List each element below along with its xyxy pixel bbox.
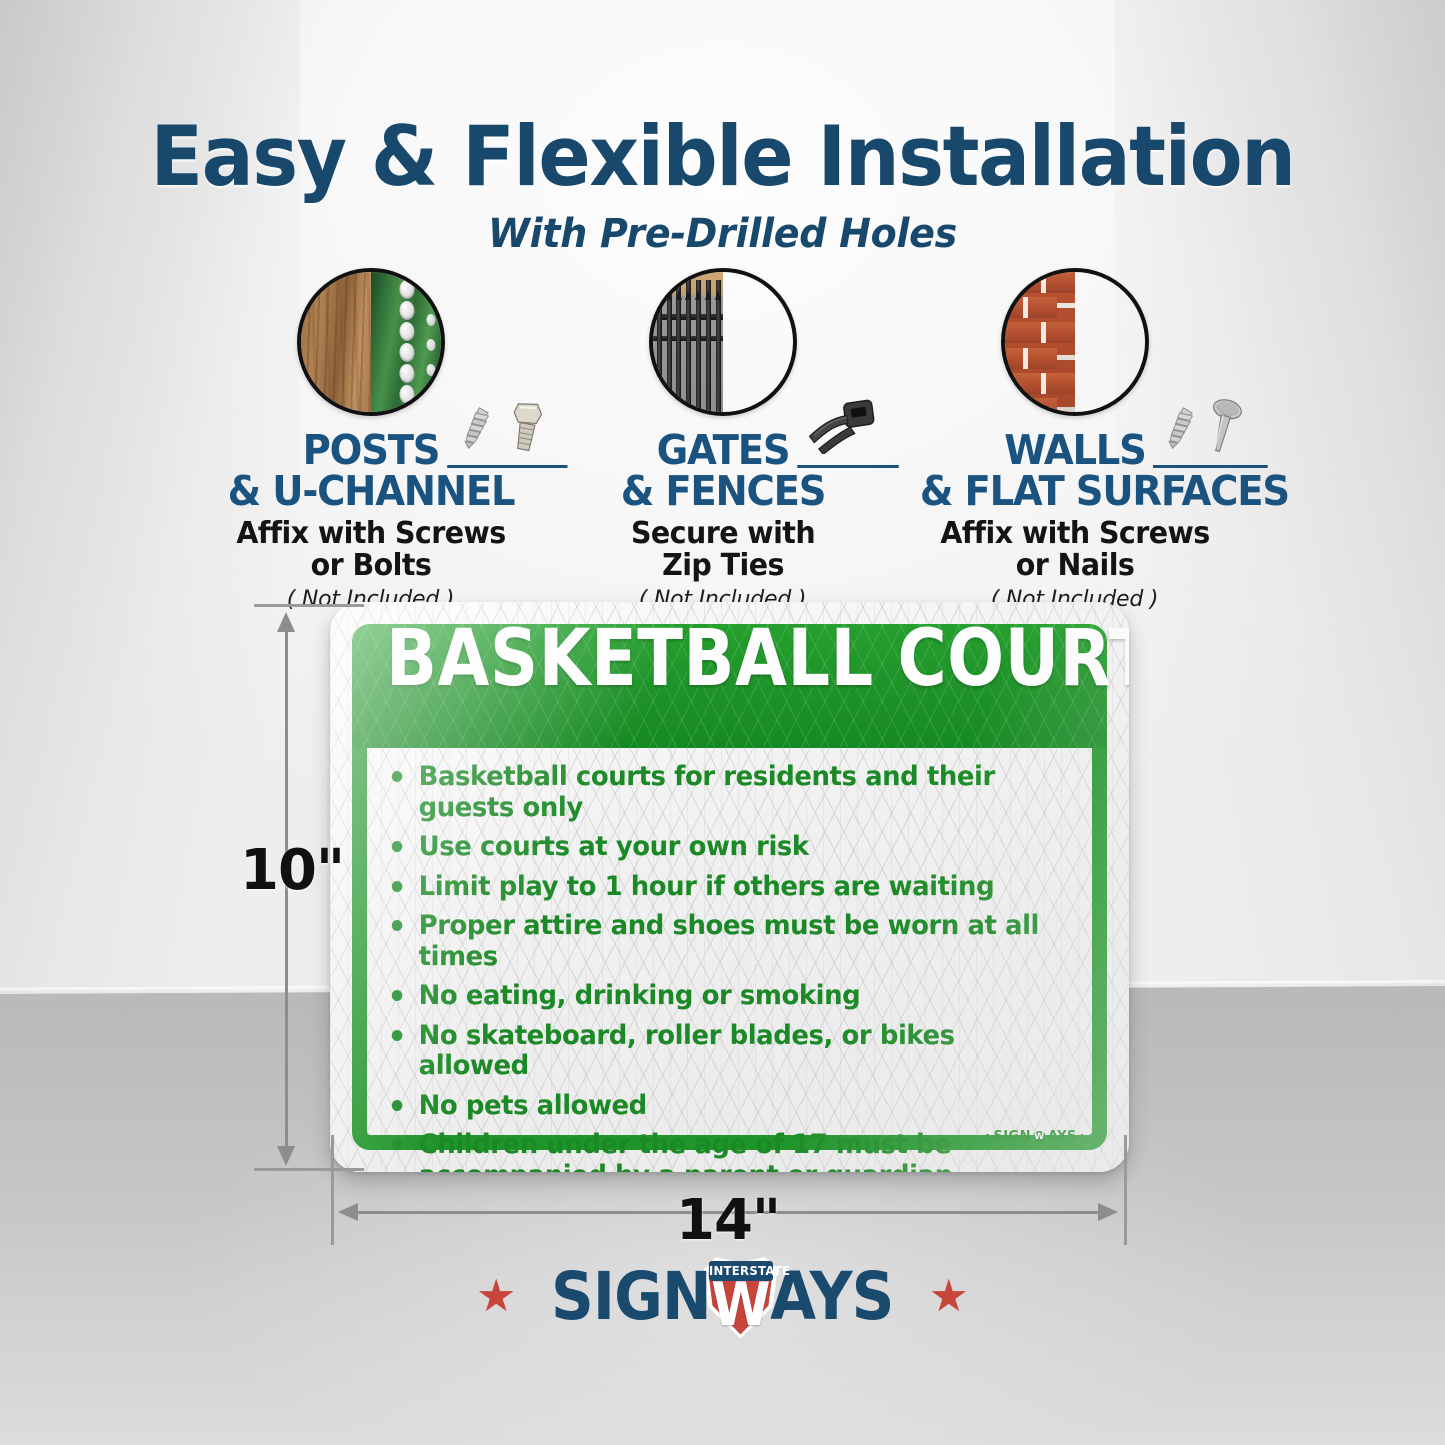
posts-photo-circle: [297, 268, 445, 416]
bolt-icon: [501, 400, 554, 454]
interstate-shield-icon: INTERSTATE W: [707, 1259, 774, 1335]
feature-walls: WALLS: [910, 268, 1240, 612]
chain-link-fence: [653, 412, 723, 416]
star-right-icon: [931, 1279, 967, 1315]
feature-gates-title: GATES & FENCES: [567, 430, 877, 511]
feature-walls-title-line2: & FLAT SURFACES: [919, 471, 1229, 512]
page-title: Easy & Flexible Installation: [51, 108, 1395, 205]
feature-gates-title-line2: & FENCES: [567, 471, 877, 512]
product-infographic: Easy & Flexible Installation With Pre-Dr…: [0, 0, 1445, 1445]
installation-options: POSTS: [0, 268, 1445, 612]
feature-walls-title-line1: WALLS: [1004, 426, 1145, 474]
width-label: 14": [676, 1188, 780, 1253]
brick-wall: [1005, 272, 1075, 412]
brand-wordmark: SIGN INTERSTATE W AYS: [551, 1258, 894, 1335]
screw-icon: [1156, 404, 1207, 454]
feature-posts-title-line2: & U-CHANNEL: [215, 471, 525, 512]
feature-walls-instruction: Affix with Screws or Nails: [918, 518, 1232, 582]
feature-gates: GATES & FENCES: [558, 268, 888, 612]
wood-post-texture: [301, 272, 371, 412]
nail-icon: [1200, 398, 1249, 454]
brand-logo: SIGN INTERSTATE W AYS: [0, 1258, 1445, 1335]
feature-gates-instruction: Secure with Zip Ties: [566, 518, 880, 582]
feature-gates-title-line1: GATES: [656, 426, 789, 474]
chain-link-mesh: [653, 412, 723, 416]
wood-plank-wall: [1005, 412, 1075, 416]
shield-letter: W: [707, 1275, 774, 1335]
feature-posts-title-line1: POSTS: [302, 426, 439, 474]
height-label: 10": [240, 838, 344, 903]
feature-posts: POSTS: [206, 268, 536, 612]
feature-posts-instruction: Affix with Screws or Bolts: [214, 518, 528, 582]
page-subtitle: With Pre-Drilled Holes: [36, 211, 1409, 257]
gates-photo-circle: [649, 268, 797, 416]
green-u-channel-post: [371, 272, 441, 412]
screw-icon: [452, 404, 503, 454]
sign-gloss-overlay: [330, 602, 1129, 1172]
star-left-icon: [478, 1279, 514, 1315]
feature-posts-title: POSTS: [215, 430, 525, 511]
zip-tie-icon: [800, 398, 886, 454]
headline-block: Easy & Flexible Installation With Pre-Dr…: [0, 108, 1445, 257]
basketball-court-rules-sign: BASKETBALL COURT RULES Basketball courts…: [330, 602, 1129, 1172]
walls-photo-circle: [1001, 268, 1149, 416]
wrought-iron-fence: [653, 272, 723, 412]
feature-walls-title: WALLS: [919, 430, 1229, 511]
